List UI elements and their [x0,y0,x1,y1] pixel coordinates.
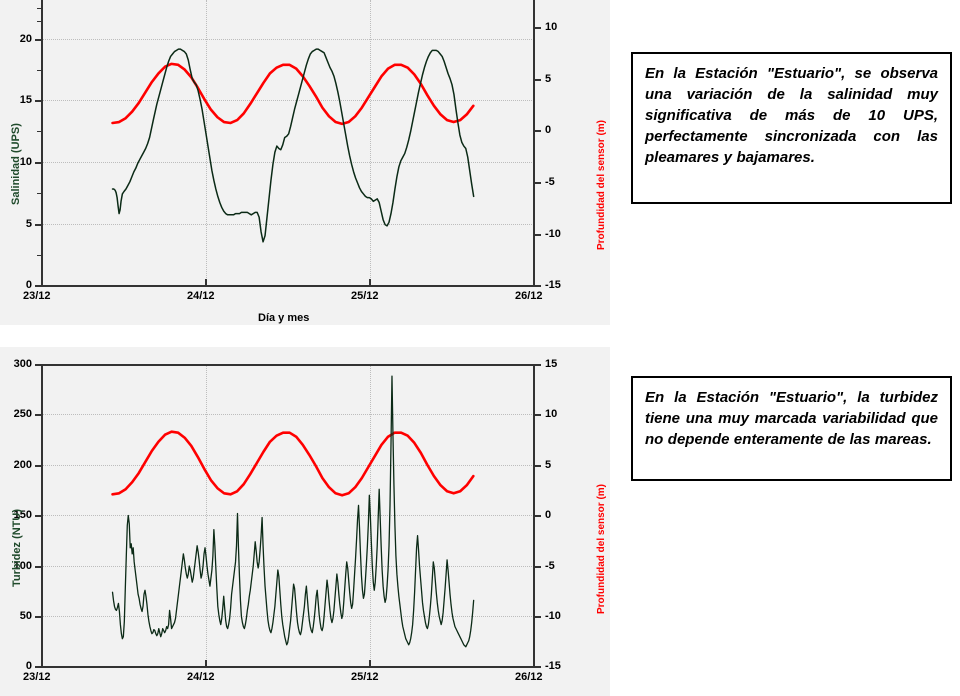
turbidity-xtick-mark-2412 [205,660,207,667]
turbidity-y2tick-label-15: 15 [545,358,557,370]
turbidity-xtick-label-2512: 25/12 [351,671,379,683]
salinity-ytick-minor [37,131,42,132]
salinity-ytick-mark-5 [35,224,42,226]
salinity-y2tick-label-m10: -10 [545,228,561,240]
salinity-xtick-label-2512: 25/12 [351,290,379,302]
salinity-xtick-mark-2612 [533,279,535,286]
turbidity-y2tick-label-10: 10 [545,408,557,420]
salinity-y2tick-mark-10 [534,27,541,29]
salinity-series-svg [0,0,610,325]
turbidity-y-axis-title: Turbidez (NTU) [11,509,23,587]
salinity-y2tick-label-5: 5 [545,73,551,85]
turbidity-y2-axis-title: Profundidad del sensor (m) [596,484,607,614]
turbidity-y2tick-label-m10: -10 [545,610,561,622]
turbidity-ytick-mark-50 [35,616,42,618]
turbidity-xtick-mark-2612 [533,660,535,667]
salinity-xtick-mark-2412 [205,279,207,286]
turbidity-ytick-label-200: 200 [2,459,32,471]
salinity-y2tick-label-10: 10 [545,21,557,33]
salinity-ytick-minor [37,70,42,71]
turbidity-chart-panel: 300 250 200 150 100 50 0 15 10 5 0 -5 -1… [0,347,610,696]
turbidity-xtick-mark-2512 [369,660,371,667]
turbidity-ytick-mark-200 [35,465,42,467]
turbidity-ytick-label-50: 50 [2,610,32,622]
turbidity-ytick-mark-300 [35,364,42,366]
salinity-xtick-mark-2312 [41,279,43,286]
turbidity-y2tick-label-m5: -5 [545,560,555,572]
turbidity-top-axis [41,364,535,366]
salinity-x-axis-title: Día y mes [258,312,309,324]
turbidity-ytick-mark-250 [35,414,42,416]
slide-page: 20 15 10 5 0 10 5 0 -5 -10 -15 23/12 24/… [0,0,960,696]
salinity-y2tick-mark-m5 [534,182,541,184]
turbidity-y2tick-mark-m15 [534,666,541,668]
salinity-ytick-minor [37,255,42,256]
turbidity-y2tick-mark-15 [534,364,541,366]
salinity-ytick-label-15: 15 [8,94,32,106]
turbidity-series-svg [0,347,610,696]
turbidity-ytick-label-250: 250 [2,408,32,420]
salinity-y2tick-label-m5: -5 [545,176,555,188]
salinity-xtick-label-2312: 23/12 [23,290,51,302]
salinity-ytick-mark-10 [35,162,42,164]
salinity-xtick-label-2412: 24/12 [187,290,215,302]
salinity-ytick-mark-20 [35,39,42,41]
salinity-y2tick-label-0: 0 [545,124,551,136]
turbidity-y2tick-label-5: 5 [545,459,551,471]
salinity-chart-panel: 20 15 10 5 0 10 5 0 -5 -10 -15 23/12 24/… [0,0,610,325]
salinity-ytick-label-20: 20 [8,33,32,45]
turbidity-y2tick-mark-5 [534,465,541,467]
salinity-ytick-mark-15 [35,100,42,102]
turbidity-y2tick-mark-0 [534,515,541,517]
turbidity-xtick-mark-2312 [41,660,43,667]
salinity-xtick-mark-2512 [369,279,371,286]
salinity-y-axis [41,0,43,286]
turbidity-x-axis [41,666,535,668]
salinity-ytick-minor [37,193,42,194]
salinity-y2-axis-title: Profundidad del sensor (m) [596,120,607,250]
salinity-ytick-label-5: 5 [8,218,32,230]
note-turbidity-text: En la Estación "Estuario", la turbidez t… [645,387,938,450]
note-salinity-text: En la Estación "Estuario", se observa un… [645,63,938,168]
salinity-x-axis [41,285,535,287]
turbidity-y2tick-label-0: 0 [545,509,551,521]
turbidity-y2tick-mark-10 [534,414,541,416]
turbidity-xtick-label-2312: 23/12 [23,671,51,683]
salinity-xtick-label-2612: 26/12 [515,290,543,302]
turbidity-ytick-label-300: 300 [2,358,32,370]
turbidity-y2tick-mark-m10 [534,616,541,618]
turbidity-ytick-mark-100 [35,566,42,568]
salinity-y2tick-mark-m10 [534,234,541,236]
salinity-y2-axis [533,0,535,287]
note-turbidity-box: En la Estación "Estuario", la turbidez t… [631,376,952,481]
turbidity-y2tick-label-m15: -15 [545,660,561,672]
salinity-ytick-minor [37,8,42,9]
salinity-ytick-minor [37,21,42,22]
salinity-y2tick-mark-m15 [534,285,541,287]
salinity-y2tick-mark-0 [534,130,541,132]
turbidity-ytick-mark-150 [35,515,42,517]
turbidity-xtick-label-2612: 26/12 [515,671,543,683]
note-salinity-box: En la Estación "Estuario", se observa un… [631,52,952,204]
turbidity-y2tick-mark-m5 [534,566,541,568]
salinity-y2tick-mark-5 [534,79,541,81]
salinity-y2tick-label-m15: -15 [545,279,561,291]
salinity-y-axis-title: Salinidad (UPS) [10,123,22,205]
turbidity-xtick-label-2412: 24/12 [187,671,215,683]
